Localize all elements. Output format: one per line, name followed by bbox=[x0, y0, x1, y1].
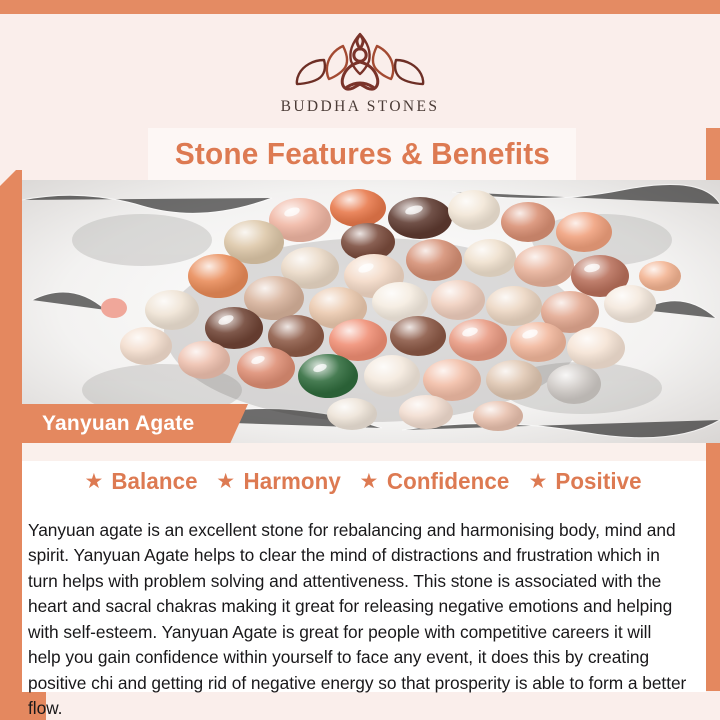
stone-name-banner: Yanyuan Agate bbox=[22, 404, 248, 444]
frame-right-lower-border bbox=[706, 443, 720, 691]
benefit-item-harmony: ★ Harmony bbox=[216, 468, 342, 495]
star-icon: ★ bbox=[216, 471, 235, 492]
benefit-item-confidence: ★ Confidence bbox=[360, 468, 512, 495]
page-title: Stone Features & Benefits bbox=[174, 136, 549, 172]
frame-top-border bbox=[0, 0, 720, 14]
benefits-list: ★ Balance ★ Harmony ★ Confidence ★ Posit… bbox=[22, 461, 706, 501]
star-icon: ★ bbox=[529, 471, 548, 492]
stone-name: Yanyuan Agate bbox=[42, 412, 194, 436]
stone-description: Yanyuan agate is an excellent stone for … bbox=[28, 518, 688, 720]
star-icon: ★ bbox=[85, 471, 104, 492]
benefit-label: Positive bbox=[556, 468, 642, 495]
star-icon: ★ bbox=[360, 471, 379, 492]
frame-left-border bbox=[0, 170, 22, 690]
brand-name: BUDDHA STONES bbox=[281, 98, 440, 116]
benefit-label: Balance bbox=[112, 468, 198, 495]
lotus-meditation-icon bbox=[285, 24, 435, 96]
details-panel: ★ Balance ★ Harmony ★ Confidence ★ Posit… bbox=[22, 443, 706, 692]
benefit-item-balance: ★ Balance bbox=[85, 468, 200, 495]
benefit-item-positive: ★ Positive bbox=[529, 468, 644, 495]
benefit-label: Confidence bbox=[387, 468, 509, 495]
brand-header: BUDDHA STONES bbox=[0, 14, 720, 128]
product-photo bbox=[22, 180, 720, 443]
title-banner: Stone Features & Benefits bbox=[148, 128, 576, 180]
benefit-label: Harmony bbox=[244, 468, 341, 495]
product-info-card: BUDDHA STONES Stone Features & Benefits bbox=[0, 0, 720, 720]
panel-top-tint bbox=[22, 443, 706, 461]
